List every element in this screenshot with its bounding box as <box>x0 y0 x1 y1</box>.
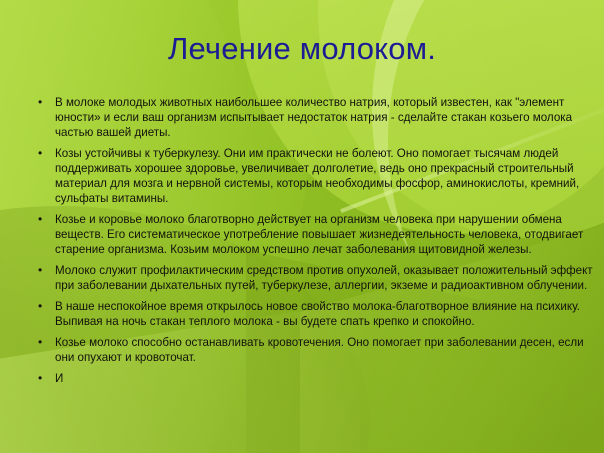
bullet-point-icon: • <box>30 371 55 386</box>
bullet-point-icon: • <box>30 95 55 110</box>
list-item: • Козье и коровье молоко благотворно дей… <box>30 212 598 257</box>
list-item-text: Козье молоко способно останавливать кров… <box>55 335 598 365</box>
presentation-slide: Лечение молоком. • В молоке молодых живо… <box>0 0 604 453</box>
bullet-point-icon: • <box>30 146 55 161</box>
list-item-text: Козье и коровье молоко благотворно дейст… <box>55 212 598 257</box>
bullet-point-icon: • <box>30 263 55 278</box>
bullet-point-icon: • <box>30 212 55 227</box>
slide-title: Лечение молоком. <box>0 32 604 67</box>
list-item: • Козы устойчивы к туберкулезу. Они им п… <box>30 146 598 206</box>
list-item: • В молоке молодых животных наибольшее к… <box>30 95 598 140</box>
slide-content: Лечение молоком. • В молоке молодых живо… <box>0 0 604 453</box>
list-item-text: В наше неспокойное время открылось новое… <box>55 299 598 329</box>
list-item-truncated: • И <box>30 371 598 386</box>
list-item: • Молоко служит профилактическим средств… <box>30 263 598 293</box>
list-item: • Козье молоко способно останавливать кр… <box>30 335 598 365</box>
list-item-text: Козы устойчивы к туберкулезу. Они им пра… <box>55 146 598 206</box>
list-item-text: Молоко служит профилактическим средством… <box>55 263 598 293</box>
bullet-point-icon: • <box>30 335 55 350</box>
list-item-text: И <box>55 371 598 386</box>
bullet-point-icon: • <box>30 299 55 314</box>
list-item-text: В молоке молодых животных наибольшее кол… <box>55 95 598 140</box>
list-item: • В наше неспокойное время открылось нов… <box>30 299 598 329</box>
bullet-list: • В молоке молодых животных наибольшее к… <box>30 95 598 392</box>
